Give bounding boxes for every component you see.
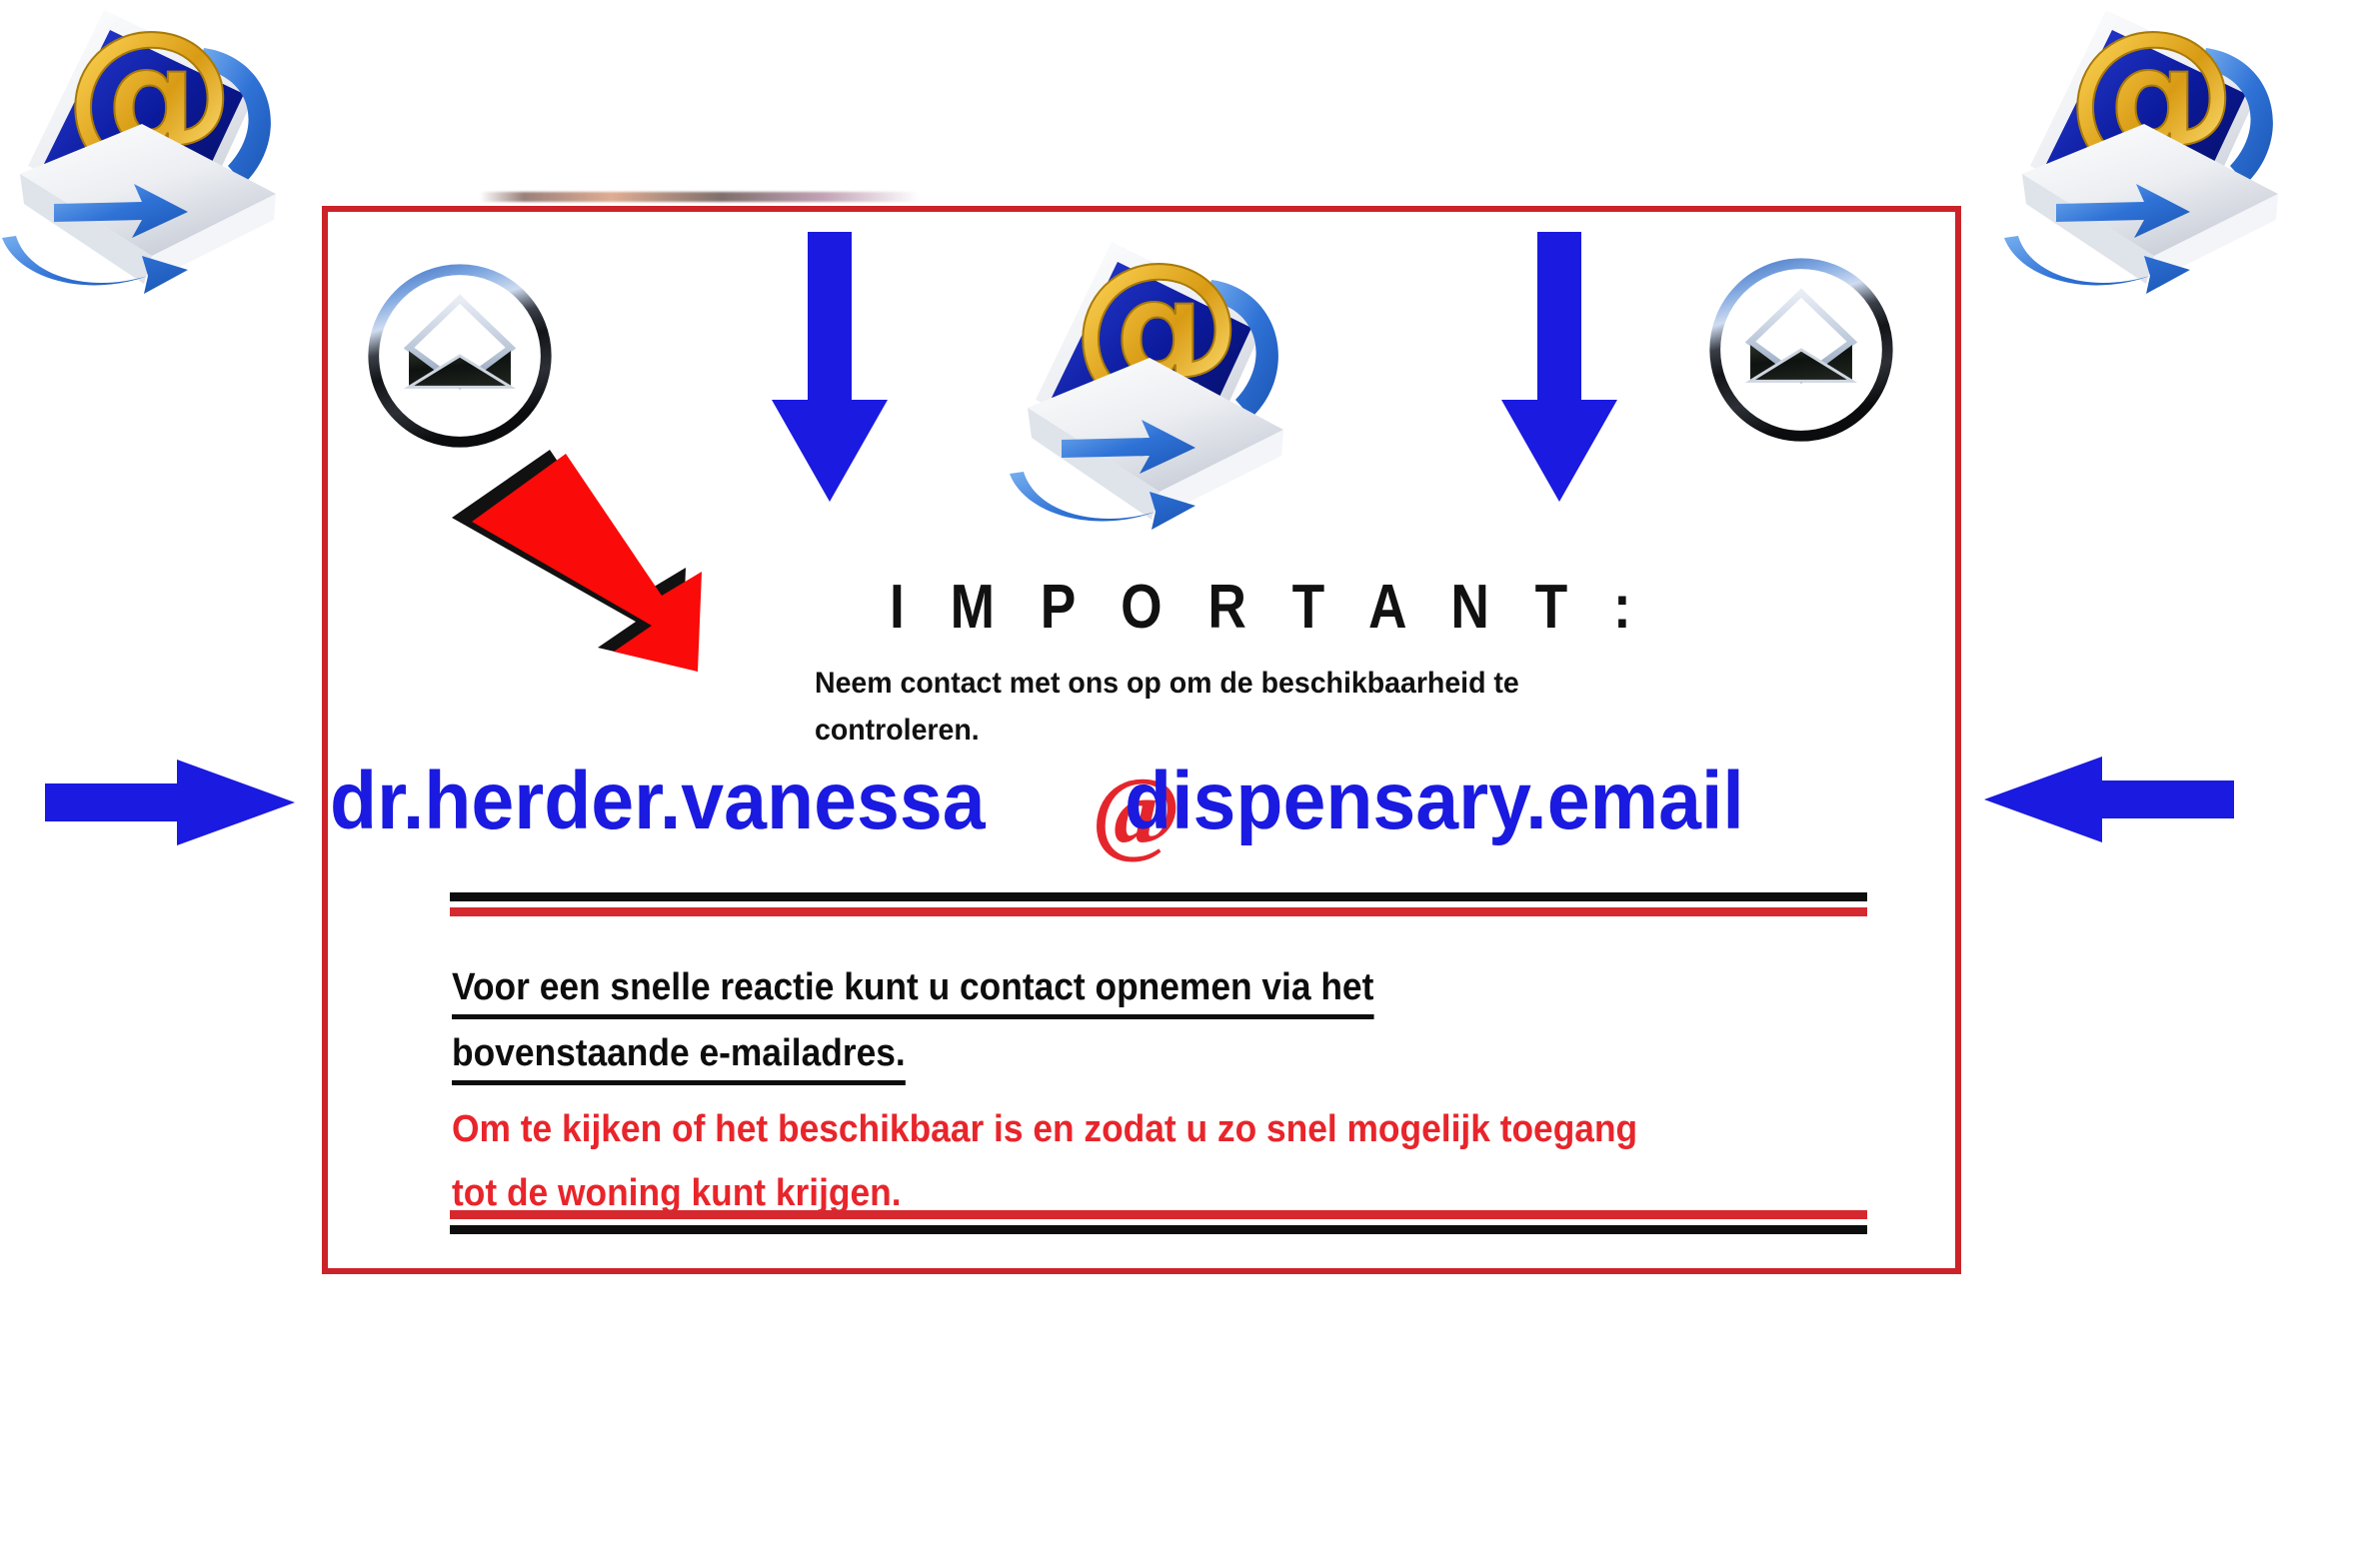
mail-art-top-right-icon: @ (1994, 0, 2294, 298)
red-diagonal-arrow-icon (450, 440, 740, 680)
flyer-canvas: @ (0, 0, 2380, 1552)
instruction-black-underlined: Voor een snelle reactie kunt u contact o… (452, 966, 1373, 1085)
instruction-red-text: Om te kijken of het beschikbaar is en zo… (452, 1097, 1651, 1225)
availability-subtitle: Neem contact met ons op om de beschikbaa… (815, 660, 1593, 754)
divider-bottom-black-rule (450, 1225, 1867, 1234)
blue-down-arrow-left-icon (770, 232, 890, 502)
chrome-circle-envelope-icon-right (1703, 252, 1899, 448)
divider-bottom (450, 1210, 1867, 1234)
divider-top-black-rule (450, 892, 1867, 901)
cropped-text-artifact (480, 192, 920, 202)
chrome-circle-envelope-icon-left (362, 258, 558, 454)
mail-art-center-icon: @ (1000, 218, 1299, 536)
mail-art-top-left-icon: @ (0, 0, 292, 298)
blue-left-arrow-icon (1984, 755, 2234, 844)
instruction-black-text: Voor een snelle reactie kunt u contact o… (452, 954, 1502, 1086)
email-address-row[interactable]: dr.herder.vanessa @ dispensary.email (330, 750, 1959, 859)
email-local-part[interactable]: dr.herder.vanessa (330, 750, 986, 853)
divider-top-red-rule (450, 907, 1867, 916)
blue-right-arrow-icon (45, 758, 295, 847)
blue-down-arrow-right-icon (1499, 232, 1619, 502)
email-domain-part[interactable]: dispensary.email (1125, 750, 1744, 853)
divider-bottom-red-rule (450, 1210, 1867, 1219)
important-heading: I M P O R T A N T : (890, 572, 1646, 643)
divider-top (450, 892, 1867, 916)
